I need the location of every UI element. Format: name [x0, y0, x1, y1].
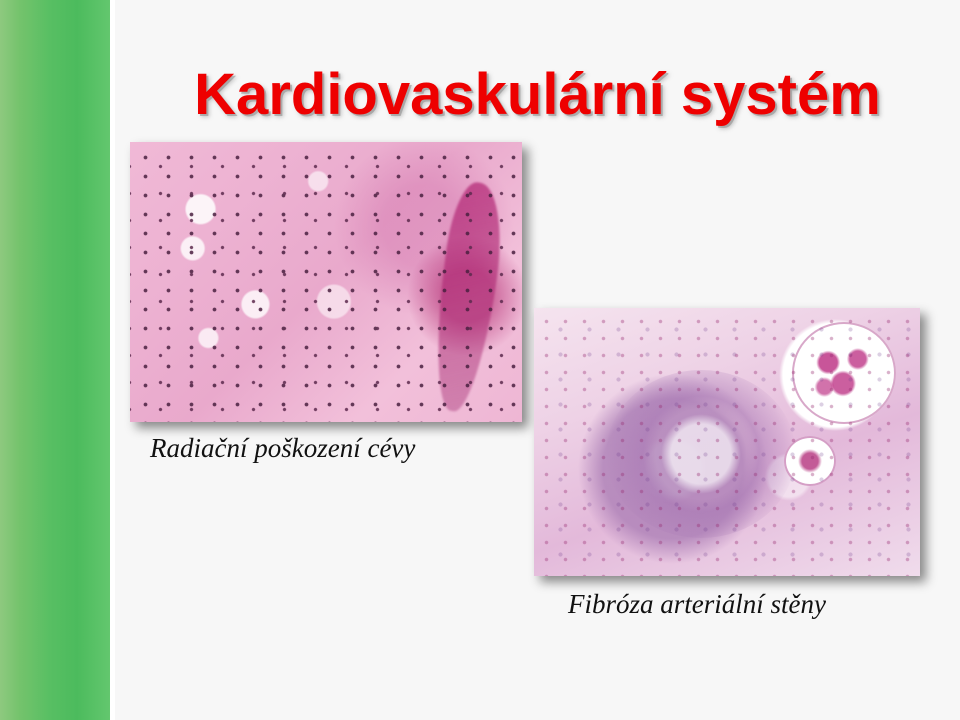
- slide: Kardiovaskulární systém Radiační poškoze…: [0, 0, 960, 720]
- figure-caption-radiation-vessel-damage: Radiační poškození cévy: [150, 433, 415, 464]
- figure-caption-arterial-wall-fibrosis: Fibróza arteriální stěny: [568, 589, 826, 620]
- figure-image-radiation-vessel-damage: [130, 142, 522, 422]
- tissue-texture: [534, 308, 920, 576]
- page-title: Kardiovaskulární systém: [115, 62, 960, 128]
- figure-image-arterial-wall-fibrosis: [534, 308, 920, 576]
- tissue-texture: [130, 142, 522, 422]
- accent-band: [0, 0, 110, 720]
